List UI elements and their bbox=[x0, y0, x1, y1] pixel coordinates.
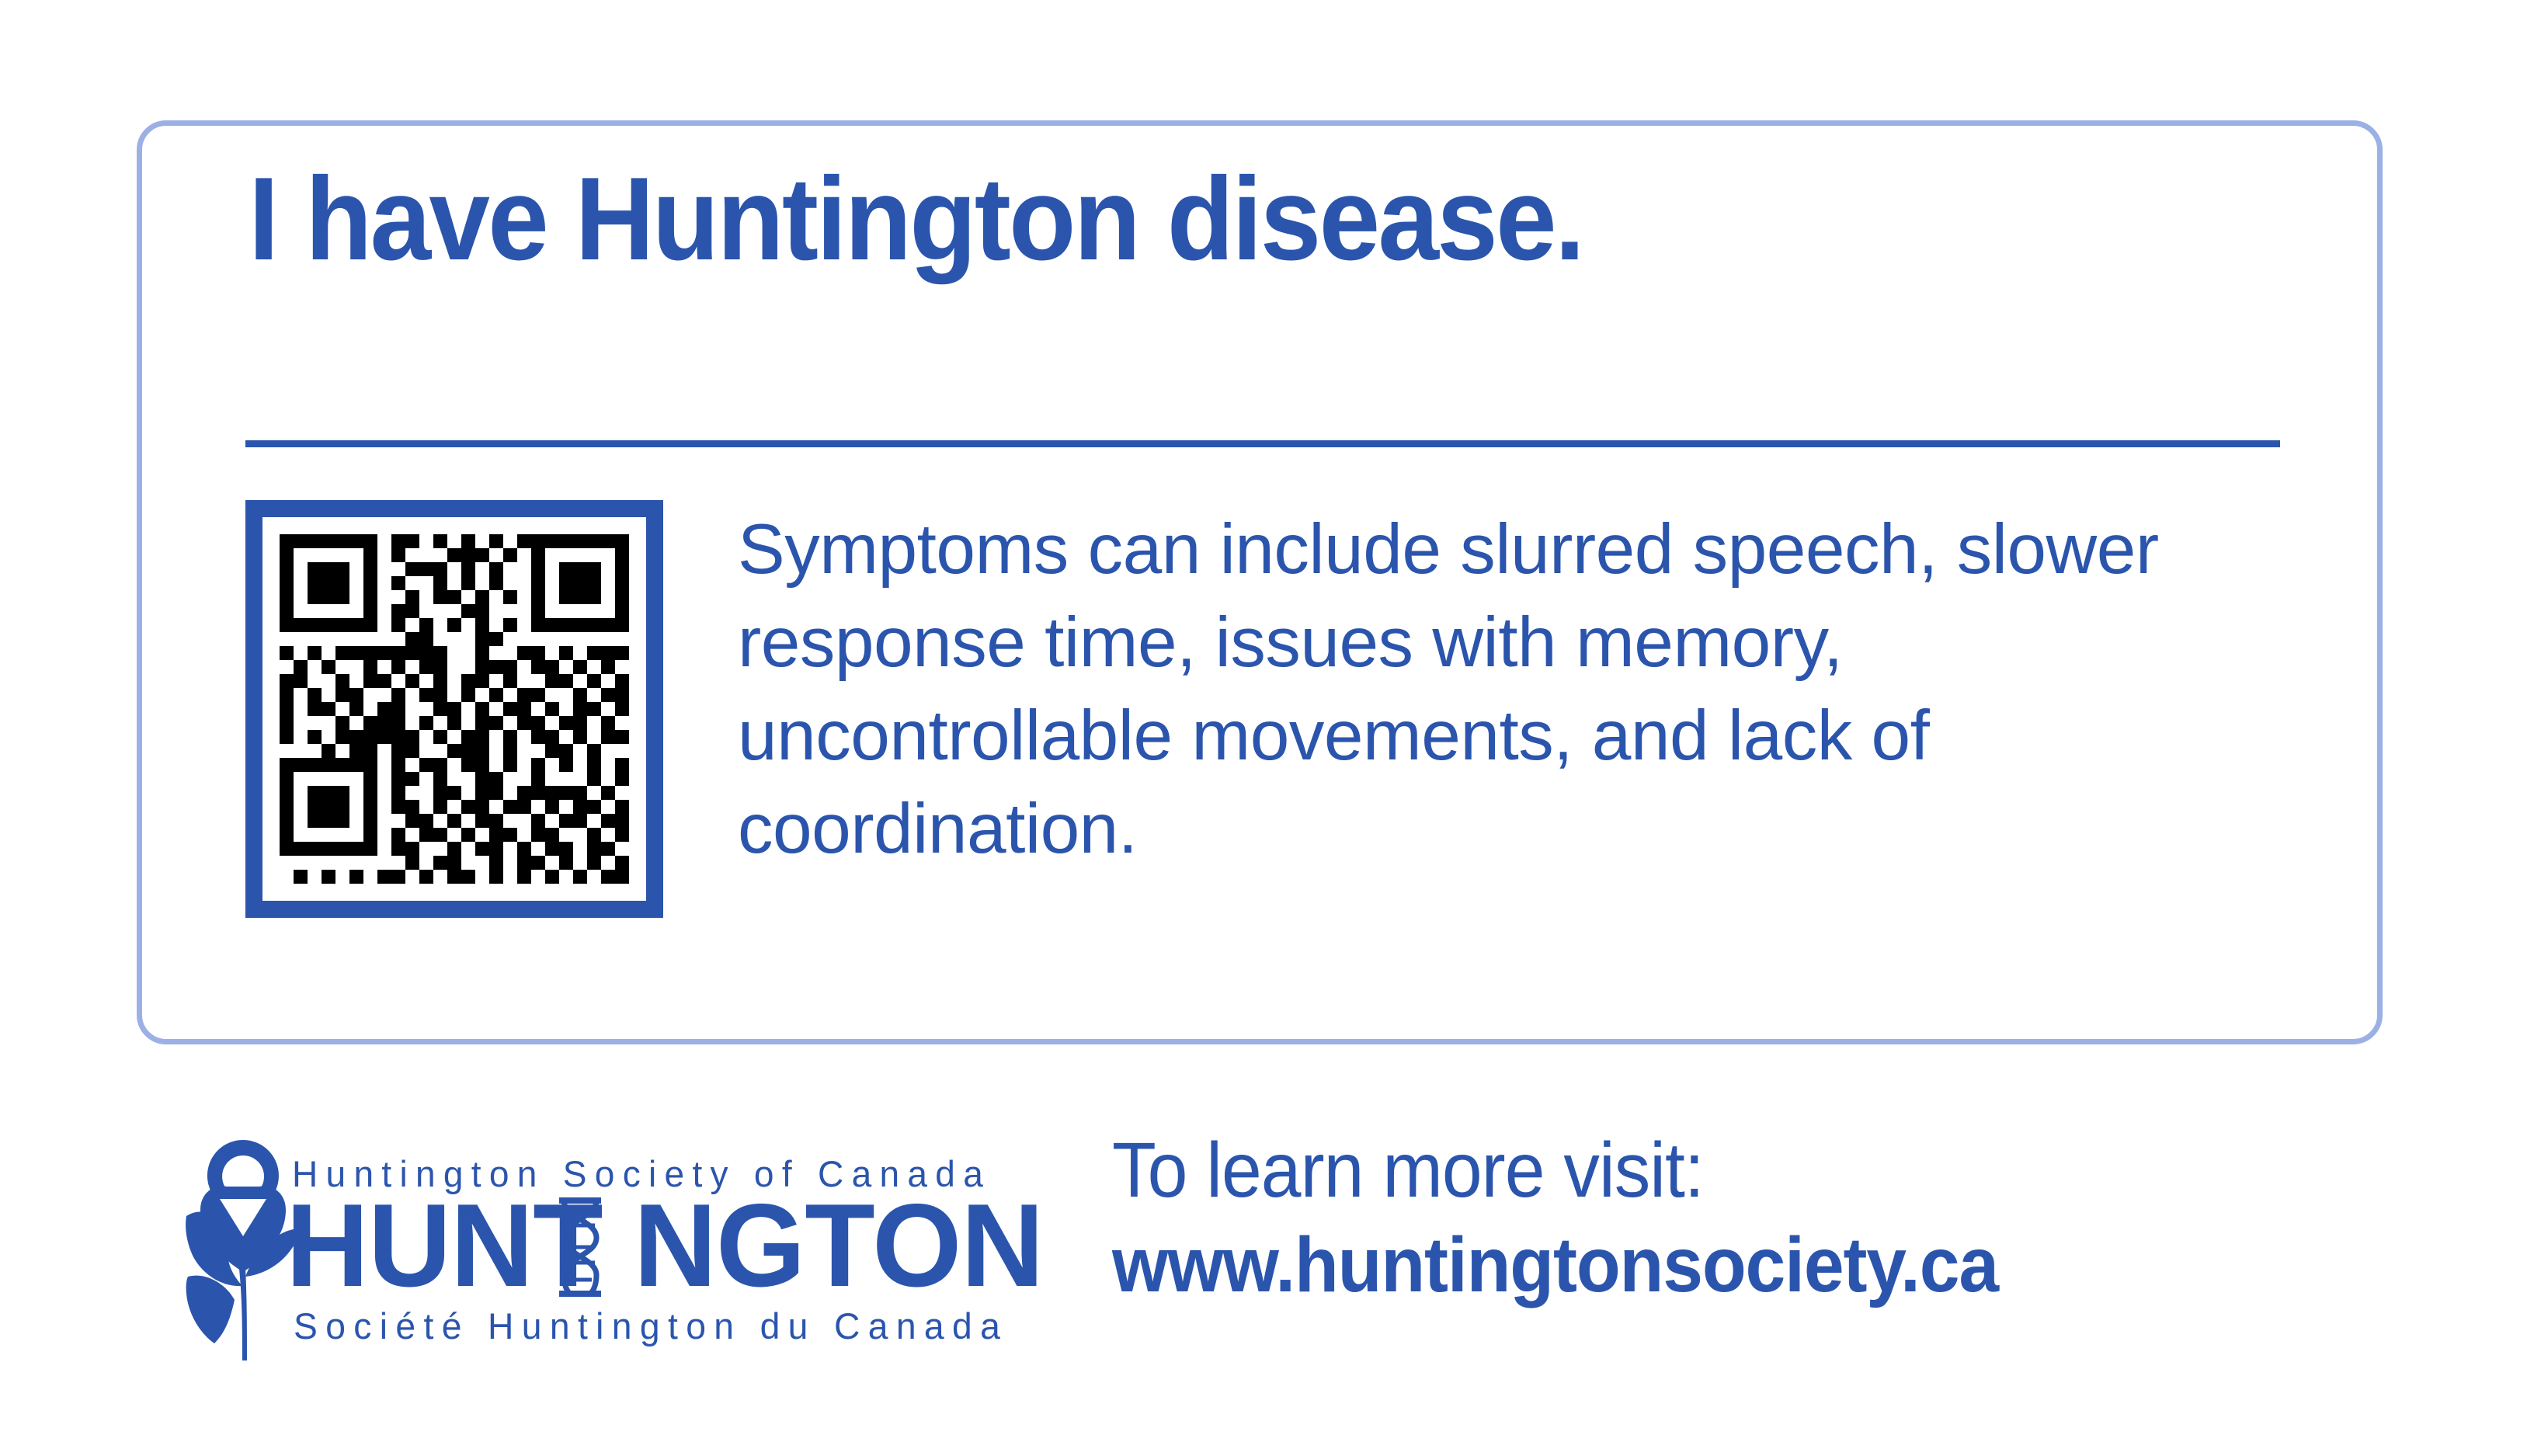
logo-bottom-line: Société Huntington du Canada bbox=[294, 1305, 1008, 1347]
info-card: I have Huntington disease. Symptoms can … bbox=[137, 120, 2383, 1044]
qr-code-matrix bbox=[280, 534, 629, 884]
footer: Huntington Society of Canada HUNTINGTON bbox=[0, 1118, 2548, 1413]
card-body: Symptoms can include slurred speech, slo… bbox=[245, 500, 2284, 918]
symptoms-description: Symptoms can include slurred speech, slo… bbox=[738, 503, 2283, 876]
page-title: I have Huntington disease. bbox=[249, 155, 1583, 283]
visit-label: To learn more visit: bbox=[1112, 1123, 2340, 1218]
dna-helix-icon bbox=[556, 1197, 604, 1297]
title-divider bbox=[245, 440, 2280, 447]
logo-wordmark-text: HUNTINGTON bbox=[286, 1191, 1043, 1300]
logo-wordmark-after: NGTON bbox=[634, 1180, 1044, 1312]
huntington-society-logo: Huntington Society of Canada HUNTINGTON bbox=[177, 1132, 1047, 1396]
logo-wordmark-before: HUNT bbox=[286, 1180, 603, 1312]
visit-block: To learn more visit: www.huntingtonsocie… bbox=[1112, 1123, 2432, 1312]
logo-wordmark: HUNTINGTON bbox=[286, 1191, 1008, 1300]
qr-code[interactable] bbox=[245, 500, 663, 918]
website-url[interactable]: www.huntingtonsociety.ca bbox=[1112, 1218, 2340, 1312]
